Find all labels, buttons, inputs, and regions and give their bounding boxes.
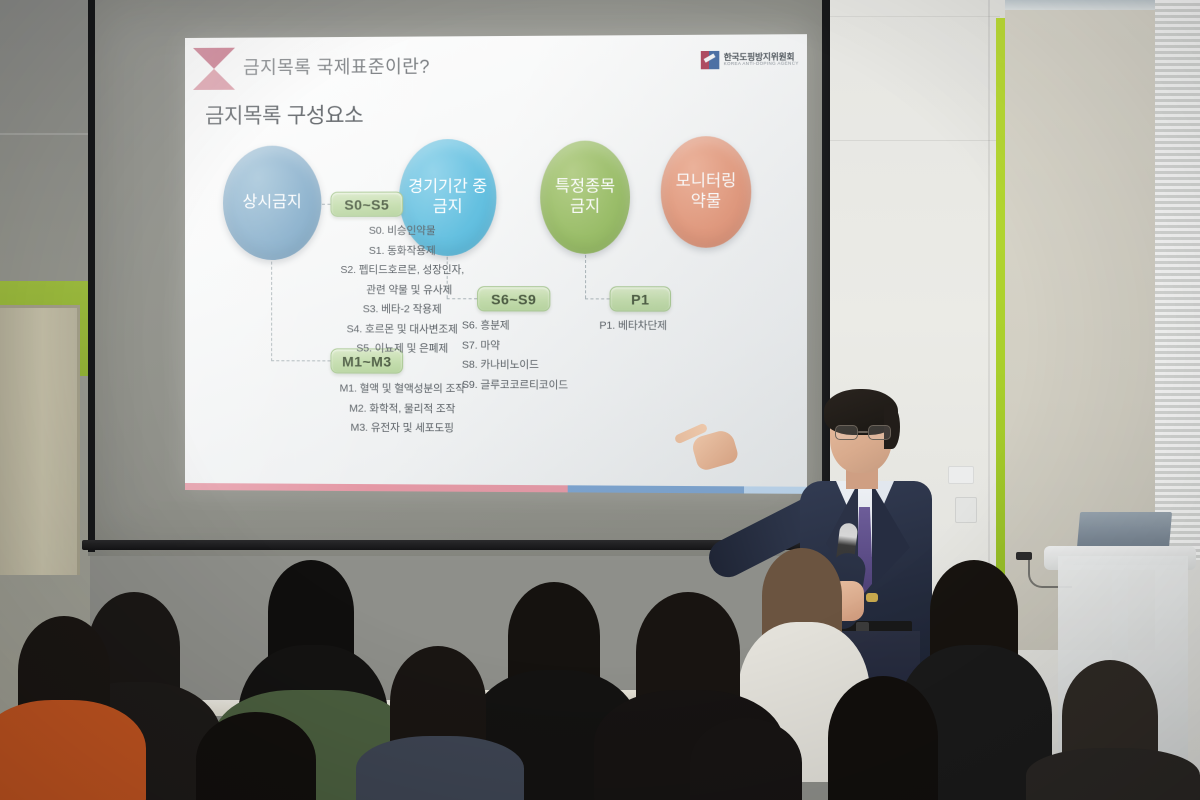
oval-label-2-line2: 금지 <box>433 199 463 216</box>
oval-particular-sports: 특정종목 금지 <box>540 141 630 254</box>
window-blinds <box>1155 0 1200 560</box>
presenter-watch <box>866 593 878 602</box>
slide-header: 금지목록 국제표준이란? 한국도핑방지위원회 KOREA ANTI-DOPING… <box>185 34 807 96</box>
oval-label-2-line1: 경기기간 중 <box>408 179 487 196</box>
wall-right-seam <box>828 140 1000 141</box>
oval-label-3-line1: 특정종목 <box>555 178 615 195</box>
wall-right-seam-top <box>828 16 1000 17</box>
connector-oval1-to-m <box>271 360 330 361</box>
audience-body <box>1026 748 1200 800</box>
oval-always-prohibited: 상시금지 <box>223 146 321 260</box>
audience-body-orange <box>0 700 146 800</box>
wall-accent-stripe <box>996 18 1005 658</box>
audience-head <box>196 712 316 800</box>
audience-head <box>690 718 802 800</box>
wall-sensor <box>948 466 974 484</box>
wall-outlet-plate[interactable] <box>955 497 977 523</box>
list-item: S6. 흥분제 <box>462 316 615 336</box>
badge-s-group: S0~S5 <box>330 192 403 217</box>
screen-edge-left <box>88 0 95 552</box>
kada-logo-icon <box>701 51 720 69</box>
slide-title: 금지목록 구성요소 <box>205 99 363 130</box>
slide-eyebrow: 금지목록 국제표준이란? <box>243 53 430 80</box>
list-item: S1. 동화작용제 <box>311 241 493 261</box>
list-item: S0. 비승인약물 <box>311 222 493 242</box>
list-item: P1. 베타차단제 <box>599 317 722 337</box>
connector-oval3-vertical <box>585 250 586 299</box>
door-left[interactable] <box>0 305 80 575</box>
glasses-icon <box>835 425 891 440</box>
list-item: S9. 글루코코르티코이드 <box>462 375 615 395</box>
audience-body <box>356 736 524 800</box>
floor-outlet <box>1016 552 1032 560</box>
oval-monitoring-program: 모니터링 약물 <box>661 136 751 248</box>
audience-head <box>828 676 938 800</box>
list-item: M3. 유전자 및 세포도핑 <box>311 419 493 439</box>
list-item: 관련 약물 및 유사제 <box>311 281 493 301</box>
oval-label-1: 상시금지 <box>243 193 302 213</box>
oval-label-4-line2: 약물 <box>691 193 721 210</box>
list-item: S7. 마약 <box>462 336 615 356</box>
oval-label-4-line1: 모니터링 <box>676 173 737 190</box>
kada-logo-en: KOREA ANTI-DOPING AGENCY <box>724 62 799 67</box>
kada-logo: 한국도핑방지위원회 KOREA ANTI-DOPING AGENCY <box>701 50 799 69</box>
list-item: S2. 펩티드호르몬, 성장인자, <box>311 261 493 281</box>
badge-p-group: P1 <box>610 286 671 311</box>
oval-label-3-line2: 금지 <box>570 198 600 215</box>
wall-left-seam <box>0 133 90 135</box>
list-item: S8. 카나비노이드 <box>462 356 615 376</box>
connector-oval3-to-p1 <box>585 298 610 299</box>
lecture-scene: 금지목록 국제표준이란? 한국도핑방지위원회 KOREA ANTI-DOPING… <box>0 0 1200 800</box>
bowtie-mark-icon <box>193 48 235 90</box>
list-item: M2. 화학적, 물리적 조작 <box>311 399 493 419</box>
list-s69-items: S6. 흥분제 S7. 마약 S8. 카나비노이드 S9. 글루코코르티코이드 <box>462 316 615 395</box>
list-p-items: P1. 베타차단제 <box>599 317 722 337</box>
